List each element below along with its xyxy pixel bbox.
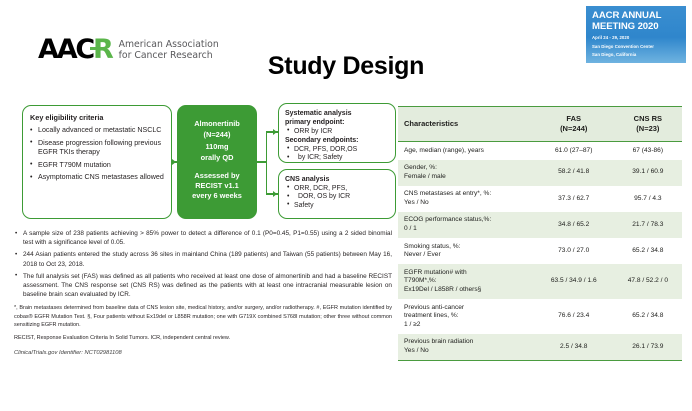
characteristic-line: T790M*,%: (404, 277, 530, 286)
clinicaltrials-identifier: ClinicalTrials.gov Identifier: NCT029811… (14, 350, 392, 356)
table-header-row: Characteristics FAS (N=244) CNS RS (N=23… (398, 107, 682, 142)
characteristic-line: Never / Ever (404, 251, 530, 260)
row-fas-value: 61.0 (27–87) (534, 142, 612, 160)
row-fas-value: 63.5 / 34.9 / 1.6 (534, 264, 612, 299)
arrowhead-primary (273, 129, 277, 135)
treatment-assessed-line2: RECIST v1.1 (182, 181, 252, 191)
row-characteristic: Smoking status, %: Never / Ever (398, 238, 534, 264)
list-item: EGFR T790M mutation (30, 161, 165, 170)
characteristic-line: Gender, %: (404, 164, 530, 173)
characteristics-table: Characteristics FAS (N=244) CNS RS (N=23… (398, 106, 682, 361)
row-fas-value: 73.0 / 27.0 (534, 238, 612, 264)
cns-heading: CNS analysis (285, 175, 390, 185)
characteristic-line: Age, median (range), years (404, 147, 530, 156)
banner-title-line1: AACR ANNUAL (592, 10, 681, 21)
note-item: A sample size of 238 patients achieving … (14, 229, 392, 247)
row-characteristic: ECOG performance status,%: 0 / 1 (398, 212, 534, 238)
footnotes: *, Brain metastases determined from base… (14, 304, 392, 342)
characteristic-line: Yes / No (404, 347, 530, 356)
row-fas-value: 37.3 / 62.7 (534, 186, 612, 212)
row-characteristic: Previous anti-cancer treatment lines, %:… (398, 299, 534, 334)
row-fas-value: 76.6 / 23.4 (534, 299, 612, 334)
note-item: 244 Asian patients entered the study acr… (14, 250, 392, 268)
primary-heading1: Systematic analysis (285, 109, 390, 118)
primary-bullet1: ORR by ICR (285, 128, 390, 137)
slide-header: AACR American Association for Cancer Res… (0, 0, 692, 90)
table-head: Characteristics FAS (N=244) CNS RS (N=23… (398, 107, 682, 142)
row-characteristic: Previous brain radiation Yes / No (398, 334, 534, 361)
row-fas-value: 58.2 / 41.8 (534, 160, 612, 186)
row-cns-value: 67 (43-86) (612, 142, 682, 160)
primary-analysis-box: Systematic analysis primary endpoint: OR… (278, 103, 396, 163)
column-header-fas: FAS (N=244) (534, 107, 612, 142)
characteristic-line: treatment lines, %: (404, 312, 530, 321)
banner-venue: San Diego Convention Center (592, 44, 681, 49)
table-row: Age, median (range), years 61.0 (27–87) … (398, 142, 682, 160)
cns-bullet2: Safety (285, 202, 390, 211)
eligibility-box: Key eligibility criteria Locally advance… (22, 105, 172, 219)
column-header-cnsrs-n: (N=23) (618, 124, 678, 134)
table-row: ECOG performance status,%: 0 / 1 34.8 / … (398, 212, 682, 238)
row-characteristic: CNS metastases at entry*, %: Yes / No (398, 186, 534, 212)
row-cns-value: 26.1 / 73.9 (612, 334, 682, 361)
footnote-symbols: *, Brain metastases determined from base… (14, 304, 392, 329)
characteristic-line: CNS metastases at entry*, %: (404, 190, 530, 199)
characteristic-line: EGFR mutation# with (404, 269, 530, 278)
cns-analysis-box: CNS analysis ORR, DCR, PFS, DOR, OS by I… (278, 169, 396, 219)
treatment-route: orally QD (182, 152, 252, 163)
characteristic-line: Previous anti-cancer (404, 304, 530, 313)
logo-text-line1: American Association (119, 39, 219, 50)
banner-dates: April 24 - 29, 2020 (592, 35, 681, 40)
column-header-fas-label: FAS (566, 114, 581, 123)
primary-heading2: primary endpoint: (285, 118, 390, 127)
row-cns-value: 65.2 / 34.8 (612, 238, 682, 264)
treatment-dose: 110mg (182, 141, 252, 152)
arrowhead-treatment (172, 159, 176, 165)
secondary-bullet-line1: DCR, PFS, DOR,OS (285, 146, 390, 155)
characteristic-line: Previous brain radiation (404, 338, 530, 347)
list-item: Asymptomatic CNS metastases allowed (30, 173, 165, 182)
banner-title-line2: MEETING 2020 (592, 21, 681, 32)
treatment-box: Almonertinib (N=244) 110mg orally QD Ass… (177, 105, 257, 219)
characteristic-line: 1 / ≥2 (404, 321, 530, 330)
secondary-bullet-line2: by ICR; Safety (285, 154, 390, 163)
cns-bullet1-line2: DOR, OS by ICR (285, 193, 390, 202)
row-cns-value: 47.8 / 52.2 / 0 (612, 264, 682, 299)
eligibility-title: Key eligibility criteria (30, 113, 165, 122)
table-row: EGFR mutation# with T790M*,%: Ex19Del / … (398, 264, 682, 299)
row-characteristic: Gender, %: Female / male (398, 160, 534, 186)
row-cns-value: 65.2 / 34.8 (612, 299, 682, 334)
logo-crossbar (90, 47, 107, 50)
table-row: Previous anti-cancer treatment lines, %:… (398, 299, 682, 334)
treatment-drug: Almonertinib (182, 118, 252, 129)
arrowhead-cns (273, 191, 277, 197)
column-header-fas-n: (N=244) (540, 124, 608, 134)
study-design-flowchart: Key eligibility criteria Locally advance… (14, 103, 392, 223)
characteristic-line: Yes / No (404, 199, 530, 208)
table-body: Age, median (range), years 61.0 (27–87) … (398, 142, 682, 361)
row-fas-value: 2.5 / 34.8 (534, 334, 612, 361)
table-row: Smoking status, %: Never / Ever 73.0 / 2… (398, 238, 682, 264)
characteristics-table-wrap: Characteristics FAS (N=244) CNS RS (N=23… (398, 106, 682, 361)
treatment-assessed-line3: every 6 weeks (182, 191, 252, 201)
connector-vertical (266, 131, 268, 195)
row-characteristic: Age, median (range), years (398, 142, 534, 160)
table-row: Previous brain radiation Yes / No 2.5 / … (398, 334, 682, 361)
cns-bullet1-line1: ORR, DCR, PFS, (285, 185, 390, 194)
characteristic-line: ECOG performance status,%: (404, 216, 530, 225)
characteristic-line: Smoking status, %: (404, 243, 530, 252)
row-characteristic: EGFR mutation# with T790M*,%: Ex19Del / … (398, 264, 534, 299)
table-row: CNS metastases at entry*, %: Yes / No 37… (398, 186, 682, 212)
column-header-cnsrs: CNS RS (N=23) (612, 107, 682, 142)
characteristic-line: Female / male (404, 173, 530, 182)
row-fas-value: 34.8 / 65.2 (534, 212, 612, 238)
column-header-characteristics: Characteristics (398, 107, 534, 142)
secondary-heading: Secondary endpoints: (285, 136, 390, 145)
characteristic-line: Ex19Del / L858R / others§ (404, 286, 530, 295)
row-cns-value: 95.7 / 4.3 (612, 186, 682, 212)
column-header-cnsrs-label: CNS RS (634, 114, 662, 123)
list-item: Locally advanced or metastatic NSCLC (30, 126, 165, 135)
row-cns-value: 39.1 / 60.9 (612, 160, 682, 186)
row-cns-value: 21.7 / 78.3 (612, 212, 682, 238)
left-column: Key eligibility criteria Locally advance… (14, 103, 392, 356)
characteristic-line: 0 / 1 (404, 225, 530, 234)
page-title: Study Design (0, 52, 692, 81)
treatment-assessed-line1: Assessed by (182, 171, 252, 181)
note-item: The full analysis set (FAS) was defined … (14, 272, 392, 300)
table-row: Gender, %: Female / male 58.2 / 41.8 39.… (398, 160, 682, 186)
footnote-abbreviations: RECIST, Response Evaluation Criteria In … (14, 334, 392, 342)
treatment-n: (N=244) (182, 129, 252, 140)
list-item: Disease progression following previous E… (30, 139, 165, 157)
study-notes: A sample size of 238 patients achieving … (14, 229, 392, 299)
eligibility-list: Locally advanced or metastatic NSCLC Dis… (30, 126, 165, 183)
